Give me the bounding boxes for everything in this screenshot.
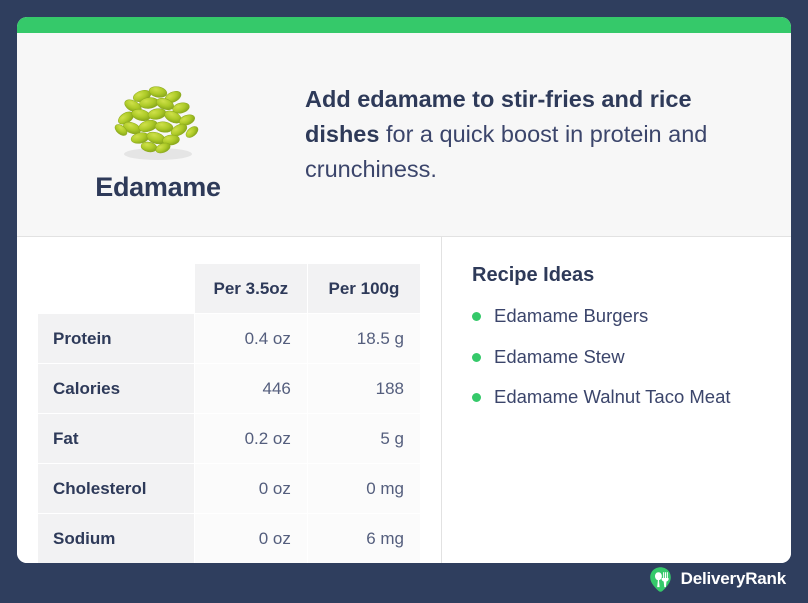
- row-value-per-3-5oz: 0 oz: [195, 514, 307, 563]
- table-row: Protein 0.4 oz 18.5 g: [38, 314, 420, 363]
- bullet-icon: [472, 393, 481, 402]
- brand-name: DeliveryRank: [681, 569, 786, 589]
- table-row: Cholesterol 0 oz 0 mg: [38, 464, 420, 513]
- row-label: Cholesterol: [38, 464, 194, 513]
- column-header-per-100g: Per 100g: [308, 264, 420, 313]
- hero-food-block: Edamame: [17, 66, 299, 203]
- accent-bar: [17, 17, 791, 33]
- deliveryrank-logo-icon: [647, 566, 674, 593]
- recipe-label: Edamame Burgers: [494, 304, 648, 329]
- row-value-per-100g: 5 g: [308, 414, 420, 463]
- table-header-row: Per 3.5oz Per 100g: [38, 264, 420, 313]
- nutrition-table-pane: Per 3.5oz Per 100g Protein 0.4 oz 18.5 g…: [17, 237, 442, 563]
- list-item: Edamame Stew: [472, 345, 771, 370]
- table-row: Calories 446 188: [38, 364, 420, 413]
- row-value-per-3-5oz: 0 oz: [195, 464, 307, 513]
- row-value-per-3-5oz: 0.4 oz: [195, 314, 307, 363]
- list-item: Edamame Burgers: [472, 304, 771, 329]
- row-value-per-100g: 18.5 g: [308, 314, 420, 363]
- brand-footer: DeliveryRank: [647, 564, 786, 594]
- hero-text-block: Add edamame to stir-fries and rice dishe…: [299, 82, 791, 186]
- recipe-ideas-pane: Recipe Ideas Edamame Burgers Edamame Ste…: [442, 237, 791, 563]
- row-value-per-3-5oz: 446: [195, 364, 307, 413]
- list-item: Edamame Walnut Taco Meat: [472, 385, 771, 410]
- table-corner-cell: [38, 264, 194, 313]
- row-value-per-3-5oz: 0.2 oz: [195, 414, 307, 463]
- row-label: Protein: [38, 314, 194, 363]
- row-label: Calories: [38, 364, 194, 413]
- table-row: Fat 0.2 oz 5 g: [38, 414, 420, 463]
- recipe-label: Edamame Stew: [494, 345, 625, 370]
- bullet-icon: [472, 312, 481, 321]
- recipe-label: Edamame Walnut Taco Meat: [494, 385, 731, 410]
- card-body: Per 3.5oz Per 100g Protein 0.4 oz 18.5 g…: [17, 237, 791, 563]
- bullet-icon: [472, 353, 481, 362]
- row-value-per-100g: 6 mg: [308, 514, 420, 563]
- hero-section: Edamame Add edamame to stir-fries and ri…: [17, 33, 791, 237]
- recipe-ideas-title: Recipe Ideas: [472, 264, 771, 287]
- nutrition-card: Edamame Add edamame to stir-fries and ri…: [17, 17, 791, 563]
- row-label: Sodium: [38, 514, 194, 563]
- nutrition-table: Per 3.5oz Per 100g Protein 0.4 oz 18.5 g…: [37, 263, 421, 563]
- row-label: Fat: [38, 414, 194, 463]
- row-value-per-100g: 0 mg: [308, 464, 420, 513]
- edamame-beans-image: [102, 70, 214, 166]
- column-header-per-3-5oz: Per 3.5oz: [195, 264, 307, 313]
- recipe-ideas-list: Edamame Burgers Edamame Stew Edamame Wal…: [472, 304, 771, 410]
- table-row: Sodium 0 oz 6 mg: [38, 514, 420, 563]
- row-value-per-100g: 188: [308, 364, 420, 413]
- food-title: Edamame: [95, 172, 220, 203]
- headline: Add edamame to stir-fries and rice dishe…: [305, 82, 757, 186]
